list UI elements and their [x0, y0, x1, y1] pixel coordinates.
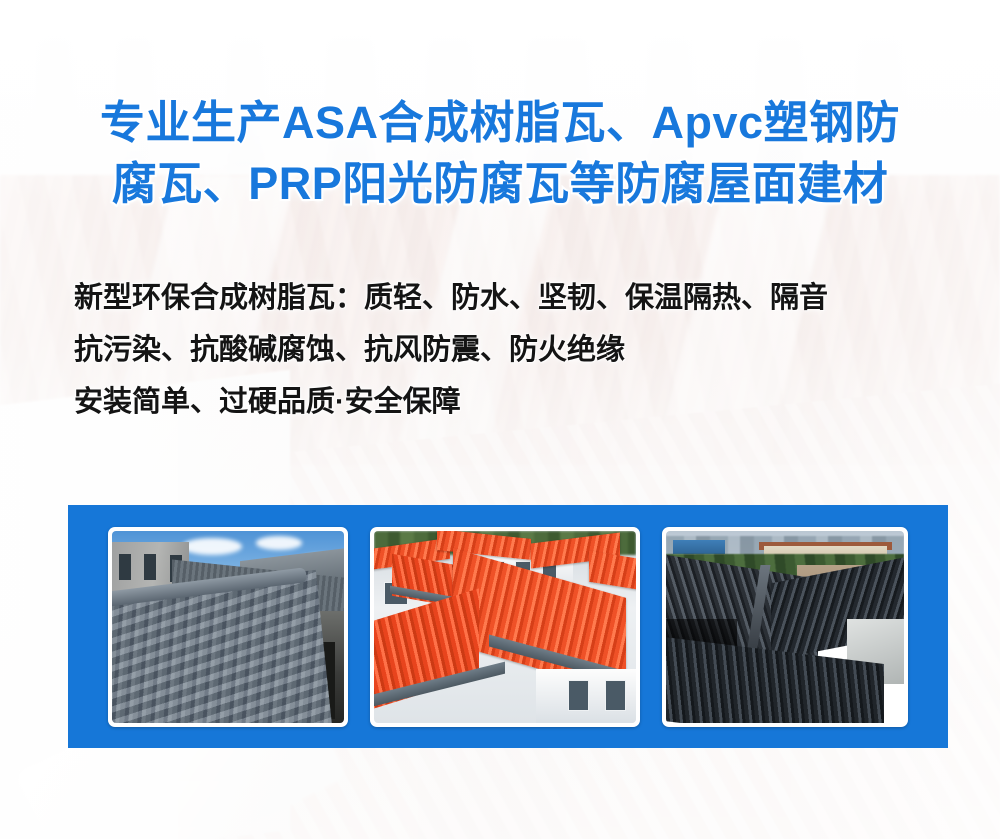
subheadline-line-1: 新型环保合成树脂瓦：质轻、防水、坚韧、保温隔热、隔音 — [74, 272, 974, 324]
photo2-window-7 — [605, 680, 626, 711]
subheadline-line-3: 安装简单、过硬品质·安全保障 — [74, 376, 974, 428]
red-resin-tile-roof-photo — [374, 531, 636, 723]
headline-line-1: 专业生产ASA合成树脂瓦、Apvc塑钢防 — [0, 92, 1000, 153]
photo3-blue-roof-building — [673, 540, 725, 553]
gallery-photo-3-frame[interactable] — [662, 527, 908, 727]
headline-block: 专业生产ASA合成树脂瓦、Apvc塑钢防 腐瓦、PRP阳光防腐瓦等防腐屋面建材 — [0, 92, 1000, 214]
photo2-window-6 — [568, 680, 589, 711]
subheadline-block: 新型环保合成树脂瓦：质轻、防水、坚韧、保温隔热、隔音 抗污染、抗酸碱腐蚀、抗风防… — [74, 272, 974, 428]
headline-line-2: 腐瓦、PRP阳光防腐瓦等防腐屋面建材 — [0, 153, 1000, 214]
gallery-photo-1-frame[interactable] — [108, 527, 348, 727]
photo1-window-1 — [119, 554, 131, 581]
product-photo-gallery — [68, 505, 948, 748]
photo1-window-2 — [144, 554, 156, 581]
photo1-cloud-2 — [256, 536, 302, 549]
subheadline-line-2: 抗污染、抗酸碱腐蚀、抗风防震、防火绝缘 — [74, 324, 974, 376]
promo-banner: 专业生产ASA合成树脂瓦、Apvc塑钢防 腐瓦、PRP阳光防腐瓦等防腐屋面建材 … — [0, 0, 1000, 839]
gray-resin-tile-roof-photo — [112, 531, 344, 723]
gallery-photo-2-frame[interactable] — [370, 527, 640, 727]
black-resin-tile-roof-photo — [666, 531, 904, 723]
